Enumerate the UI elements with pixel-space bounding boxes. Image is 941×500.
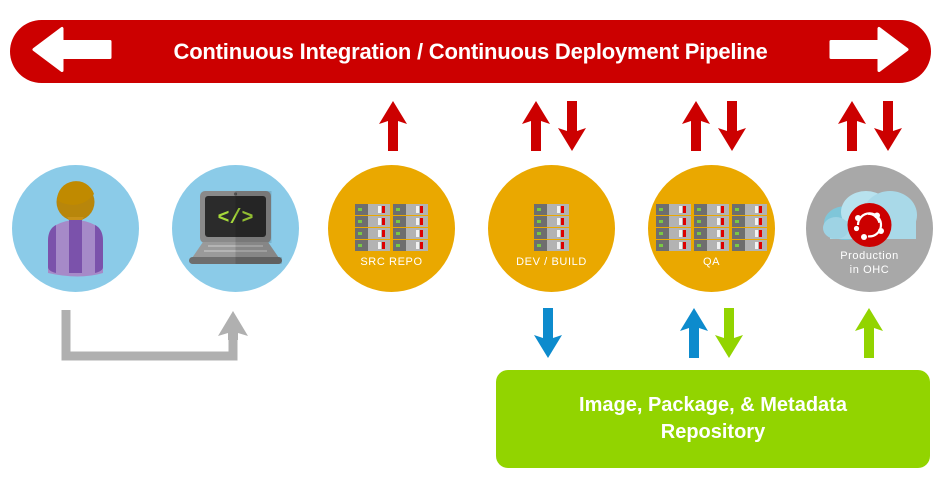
arrow-pipeline-src-repo-up xyxy=(378,100,408,157)
person-icon xyxy=(12,165,139,292)
node-workstation[interactable]: </> xyxy=(172,165,299,292)
elbow-arrow-up-icon xyxy=(60,310,250,373)
arrow-pipeline-dev-build-down xyxy=(557,100,587,157)
laptop-code-icon: </> xyxy=(172,165,299,292)
repository-label: Image, Package, & Metadata Repository xyxy=(579,392,847,446)
openshift-logo xyxy=(848,203,892,247)
server-rack-icon xyxy=(488,165,615,292)
node-developer[interactable] xyxy=(12,165,139,292)
arrow-right-icon xyxy=(829,26,909,77)
arrow-left-icon xyxy=(32,26,112,77)
arrow-pipeline-production-up xyxy=(837,100,867,157)
cicd-pipeline-diagram: Continuous Integration / Continuous Depl… xyxy=(0,0,941,500)
arrow-dev-build-to-repository-down xyxy=(533,307,563,364)
server-rack-icon xyxy=(328,165,455,292)
arrow-pipeline-dev-build-up xyxy=(521,100,551,157)
arrow-repository-to-production-up xyxy=(854,307,884,364)
node-src-repo[interactable]: SRC REPO xyxy=(328,165,455,292)
arrow-pipeline-qa-down xyxy=(717,100,747,157)
node-production[interactable]: Production in OHC xyxy=(806,165,933,292)
arrow-pipeline-qa-up xyxy=(681,100,711,157)
arrow-pipeline-production-down xyxy=(873,100,903,157)
node-label-src-repo: SRC REPO xyxy=(328,255,455,269)
node-label-qa: QA xyxy=(648,255,775,269)
node-label-dev-build: DEV / BUILD xyxy=(488,255,615,269)
node-label-production-line2: in OHC xyxy=(806,263,933,277)
pipeline-title: Continuous Integration / Continuous Depl… xyxy=(174,39,768,65)
pipeline-banner: Continuous Integration / Continuous Depl… xyxy=(10,20,931,83)
arrow-repository-to-qa-up xyxy=(679,307,709,364)
repository-label-line2: Repository xyxy=(579,419,847,446)
repository-box[interactable]: Image, Package, & Metadata Repository xyxy=(496,370,930,468)
node-label-production-line1: Production xyxy=(806,249,933,263)
arrow-qa-to-repository-down xyxy=(714,307,744,364)
server-rack-icon xyxy=(648,165,775,292)
repository-label-line1: Image, Package, & Metadata xyxy=(579,392,847,419)
node-dev-build[interactable]: DEV / BUILD xyxy=(488,165,615,292)
node-qa[interactable]: QA xyxy=(648,165,775,292)
